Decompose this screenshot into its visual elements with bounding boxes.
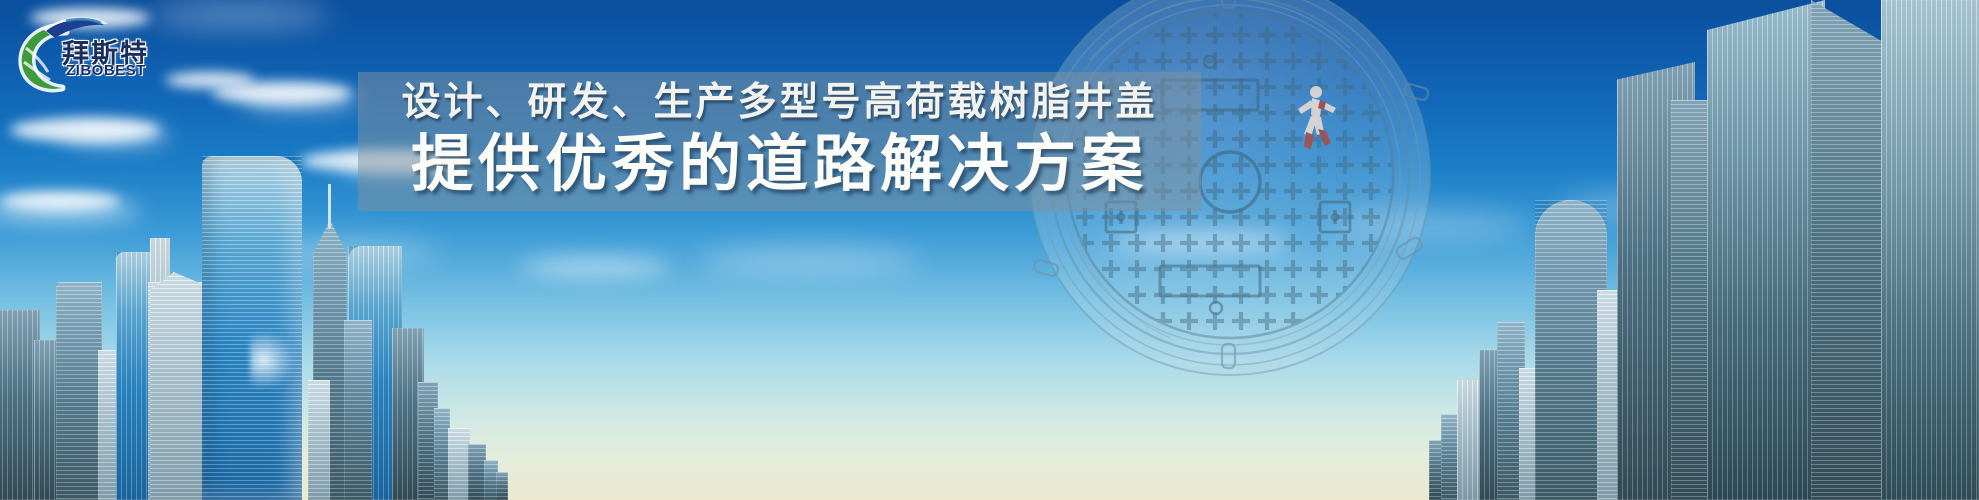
- building: [344, 320, 372, 500]
- building: [1881, 0, 1979, 500]
- building: [448, 428, 470, 500]
- building-landmark: [202, 156, 302, 500]
- headline-line-2: 提供优秀的道路解决方案: [411, 130, 1148, 199]
- building-landmark: [1707, 0, 1825, 500]
- building: [308, 380, 330, 500]
- headline-text-group: 设计、研发、生产多型号高荷载树脂井盖 提供优秀的道路解决方案: [358, 72, 1201, 211]
- antenna: [328, 184, 331, 228]
- building: [150, 272, 206, 500]
- company-logo[interactable]: 拜斯特 ZIBOBEST: [8, 8, 168, 96]
- cloud-icon: [150, 2, 330, 28]
- headline-line-1: 设计、研发、生产多型号高荷载树脂井盖: [401, 83, 1157, 124]
- city-skyline-right: [1419, 40, 1979, 500]
- cloud-icon: [700, 248, 920, 274]
- building: [56, 282, 102, 500]
- glass-glare: [250, 330, 296, 390]
- cloud-icon: [520, 258, 670, 276]
- hero-banner: 拜斯特 ZIBOBEST 设计、研发、生产多型号高荷载树脂井盖 提供优秀的道路解…: [0, 0, 1979, 500]
- running-figure-icon: [1282, 82, 1344, 154]
- logo-english-name: ZIBOBEST: [66, 62, 146, 79]
- building: [496, 472, 508, 500]
